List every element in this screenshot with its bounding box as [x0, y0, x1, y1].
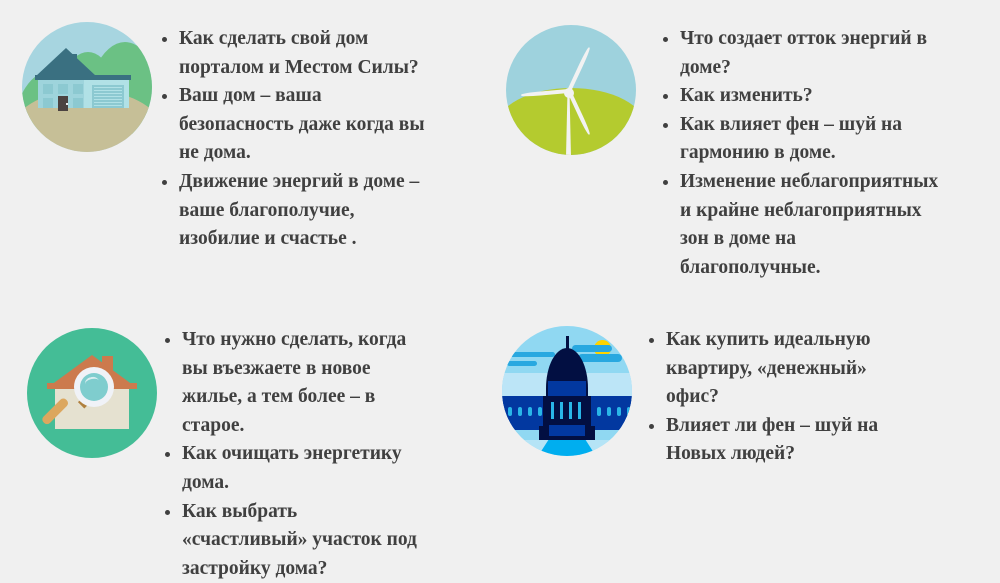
entrance-steps	[549, 425, 585, 436]
wing-window	[607, 407, 611, 416]
house-roof	[36, 48, 96, 76]
quadrant-top-right: Что создает отток энергий в доме? Как из…	[500, 0, 1000, 275]
quadrant-bottom-left: Что нужно сделать, когда вы въезжаете в …	[0, 275, 500, 549]
house-inspection-icon	[27, 328, 157, 458]
bullet-list-bottom-left: Что нужно сделать, когда вы въезжаете в …	[165, 326, 427, 583]
door-knob	[66, 103, 68, 105]
list-item: Как купить идеальную квартиру, «денежный…	[649, 326, 917, 412]
wing-window	[508, 407, 512, 416]
bullet-list-top-left: Как сделать свой дом порталом и Местом С…	[162, 25, 434, 254]
list-item: Как сделать свой дом порталом и Местом С…	[162, 25, 434, 82]
cloud	[507, 361, 537, 366]
turbine-hub	[564, 88, 574, 98]
wing-window	[597, 407, 601, 416]
window	[73, 84, 83, 94]
column	[569, 402, 572, 419]
list-item: Движение энергий в доме – ваше благополу…	[162, 168, 434, 254]
quadrant-top-left: Как сделать свой дом порталом и Местом С…	[0, 0, 500, 275]
wing-window	[528, 407, 532, 416]
wing-window	[627, 407, 631, 416]
list-item: Изменение неблагоприятных и крайне небла…	[663, 168, 941, 282]
column	[560, 402, 563, 419]
list-item: Как очищать энергетику дома.	[165, 440, 427, 497]
window	[58, 84, 68, 94]
cloud	[572, 345, 612, 352]
cloud	[510, 352, 555, 357]
wing-window	[518, 407, 522, 416]
wing-window	[538, 407, 542, 416]
column	[578, 402, 581, 419]
wing-window	[617, 407, 621, 416]
quadrant-bottom-right: Как купить идеальную квартиру, «денежный…	[500, 275, 1000, 549]
bullet-list-top-right: Что создает отток энергий в доме? Как из…	[663, 25, 941, 282]
list-item: Влияет ли фен – шуй на Новых людей?	[649, 412, 917, 469]
cloud	[578, 354, 622, 362]
capitol-building-icon	[502, 326, 632, 456]
list-item: Ваш дом – ваша безопасность даже когда в…	[162, 82, 434, 168]
list-item: Как выбрать «счастливый» участок под зас…	[165, 498, 427, 583]
bullet-list-bottom-right: Как купить идеальную квартиру, «денежный…	[649, 326, 917, 469]
list-item: Как влияет фен – шуй на гармонию в доме.	[663, 111, 941, 168]
list-item: Что нужно сделать, когда вы въезжаете в …	[165, 326, 427, 440]
column	[551, 402, 554, 419]
window	[73, 98, 83, 108]
list-item: Что создает отток энергий в доме?	[663, 25, 941, 82]
slide-canvas: Как сделать свой дом порталом и Местом С…	[0, 0, 1000, 549]
wind-turbine-icon	[506, 25, 636, 155]
window	[43, 98, 53, 108]
window	[43, 84, 53, 94]
list-item: Как изменить?	[663, 82, 941, 111]
house-landscape-icon	[22, 22, 152, 152]
garage-door	[92, 85, 124, 108]
